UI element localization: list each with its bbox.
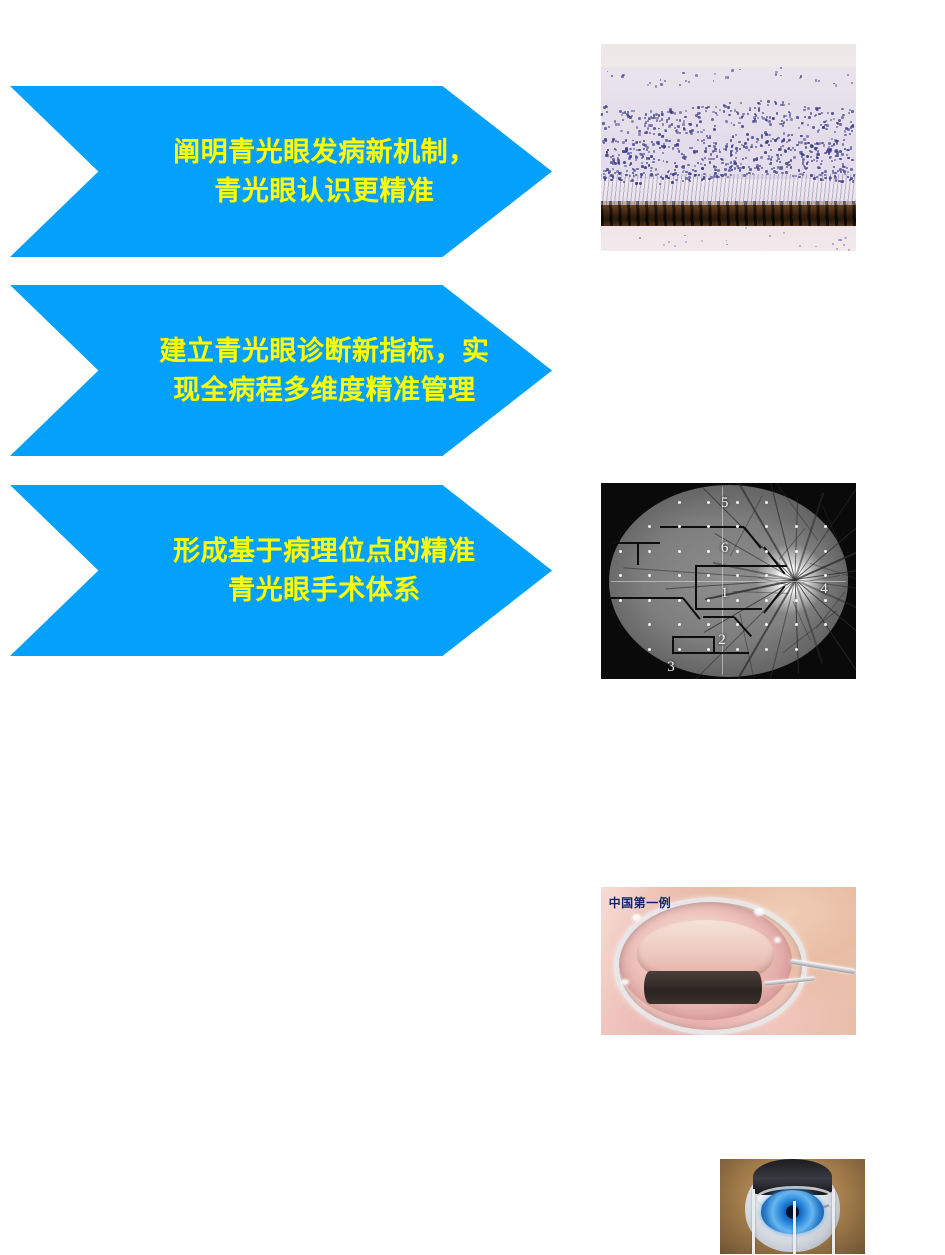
fundus-zone-number-6: 6 [721,540,729,557]
chevron-text-diagnosis: 建立青光眼诊断新指标，实 现全病程多维度精准管理 [151,332,498,409]
chevron-banner-surgery[interactable]: 形成基于病理位点的精准 青光眼手术体系 [10,485,552,656]
fundus-zone-number-4: 4 [820,581,828,598]
chevron-text-surgery: 形成基于病理位点的精准 青光眼手术体系 [151,532,498,609]
histology-nuclei-dots [601,44,856,251]
fundus-zone-map-photo: 5 6 1 2 3 4 [601,483,856,679]
fundus-zone-number-5: 5 [721,495,729,512]
eye-implant-illustration [719,1158,866,1255]
slide-canvas: 阐明青光眼发病新机制， 青光眼认识更精准 建立青光眼诊断新指标，实 现全病程多维… [0,0,945,708]
chevron-banner-mechanism[interactable]: 阐明青光眼发病新机制， 青光眼认识更精准 [10,86,552,257]
chevron-text-mechanism: 阐明青光眼发病新机制， 青光眼认识更精准 [151,133,498,210]
glaucoma-surgery-photo: 中国第一例 [601,887,856,1035]
fundus-zone-number-1: 1 [721,585,729,602]
eye-illustration-arm-left [752,1189,755,1254]
fundus-zone-number-3: 3 [667,659,675,676]
surgery-lid-speculum [614,897,808,1034]
surgery-caption-first-case: 中国第一例 [609,894,672,911]
fundus-zone-number-2: 2 [718,632,726,649]
eye-illustration-arm-right [832,1189,835,1254]
surgery-glint-b [754,908,764,916]
eye-illustration-arm-mid [793,1201,796,1254]
chevron-banner-diagnosis[interactable]: 建立青光眼诊断新指标，实 现全病程多维度精准管理 [10,285,552,456]
surgery-glint-a [632,914,641,921]
retina-histology-photo [601,44,856,251]
